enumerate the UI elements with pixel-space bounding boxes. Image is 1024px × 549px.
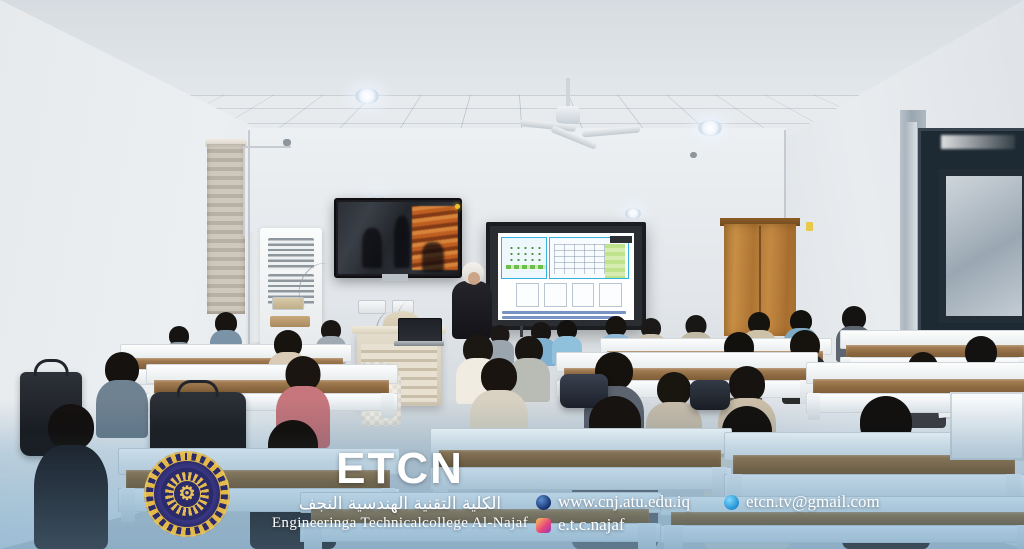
student-foreground <box>34 404 108 549</box>
tv-indicator-led <box>455 204 460 209</box>
brand-name-english: Engineeringa Technicalcollege Al-Najaf <box>240 515 560 532</box>
tv-screen <box>338 202 458 274</box>
slide-chart-row <box>516 283 622 307</box>
window-blind <box>207 144 245 314</box>
ceiling-fan-blades <box>520 118 640 142</box>
wall-conduit <box>243 146 291 148</box>
laptop-keyboard[interactable] <box>394 341 444 346</box>
slide-highlight-column <box>605 244 625 278</box>
ceiling-sensor <box>283 139 291 146</box>
window-inner-pane <box>939 169 1024 323</box>
recessed-downlight <box>625 208 641 219</box>
wall-conduit <box>243 146 245 236</box>
ac-control-panel[interactable] <box>270 316 310 327</box>
presenter-face <box>468 272 480 285</box>
brand-acronym: ETCN <box>240 447 560 491</box>
right-window <box>918 128 1024 350</box>
slide-panel-right <box>549 237 629 279</box>
email-icon <box>724 495 739 510</box>
brand-block: ⚙ ETCN الكلية التقنية الهندسية النجف Eng… <box>144 443 564 543</box>
email-text[interactable]: etcn.tv@gmail.com <box>746 491 880 514</box>
ceiling-fan-rod <box>566 78 570 108</box>
recessed-downlight <box>355 88 379 104</box>
slide-corner-badge <box>610 236 632 243</box>
slide-legend-strip <box>506 265 546 269</box>
etcn-seal-logo: ⚙ <box>144 451 230 537</box>
smartboard-display[interactable] <box>486 222 646 330</box>
wall-socket[interactable] <box>358 300 386 314</box>
brand-text-group: ETCN الكلية التقنية الهندسية النجف Engin… <box>240 447 560 532</box>
recessed-downlight <box>698 120 722 136</box>
presentation-slide <box>498 233 634 320</box>
website-text[interactable]: www.cnj.atu.edu.iq <box>558 491 690 514</box>
tv-wall-mount <box>382 274 408 281</box>
bench-side-frame <box>950 392 1024 460</box>
instagram-handle[interactable]: e.t.c.najaf <box>558 514 625 537</box>
slide-panel-left <box>501 237 547 279</box>
instagram-icon <box>536 518 551 533</box>
window-glare <box>941 135 1015 149</box>
slide-molecular-diagram <box>508 245 544 261</box>
lecture-hall-photo: ⚙ ETCN الكلية التقنية الهندسية النجف Eng… <box>0 0 1024 549</box>
brand-name-arabic: الكلية التقنية الهندسية النجف <box>240 494 560 514</box>
slide-caption-line <box>502 311 626 314</box>
contact-info-group: www.cnj.atu.edu.iq etcn.tv@gmail.com e.t… <box>536 491 936 537</box>
ceiling-sensor <box>690 152 697 158</box>
logo-emblem-icon: ⚙ <box>178 485 195 504</box>
wall-tv[interactable] <box>334 198 462 278</box>
door-sign <box>806 222 813 231</box>
globe-icon <box>536 495 551 510</box>
window-trim <box>905 122 917 350</box>
